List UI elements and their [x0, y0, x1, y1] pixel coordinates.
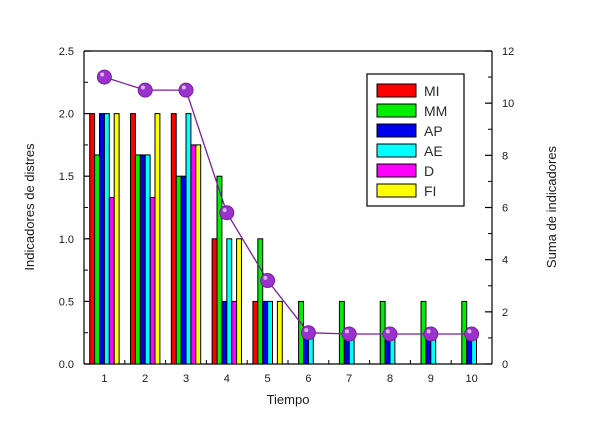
overlay-marker-highlight — [100, 72, 104, 76]
x-axis-tick-label: 8 — [387, 373, 393, 385]
bar-ap-t1 — [100, 114, 105, 364]
y-axis-left-ticks: 0.00.51.01.52.02.5 — [59, 46, 91, 371]
bar-ae-t4 — [227, 239, 232, 364]
bar-mm-t4 — [217, 176, 222, 364]
overlay-marker-t9 — [424, 327, 438, 341]
legend: MIMMAPAEDFI — [367, 74, 464, 206]
bar-mi-t2 — [131, 114, 136, 364]
bar-mi-t3 — [171, 114, 176, 364]
x-axis-tick-label: 3 — [183, 373, 189, 385]
y-axis-right-tick-label: 0 — [502, 359, 508, 371]
bar-fi-t1 — [114, 114, 119, 364]
x-axis-tick-label: 7 — [346, 373, 352, 385]
bar-ap-t5 — [263, 301, 268, 364]
overlay-marker-highlight — [427, 329, 431, 333]
bar-ae-t5 — [268, 301, 273, 364]
overlay-marker-highlight — [182, 86, 186, 90]
x-axis-tick-label: 1 — [101, 373, 107, 385]
y-axis-left-tick-label: 2.0 — [59, 109, 74, 121]
y-axis-left-tick-label: 1.5 — [59, 171, 74, 183]
overlay-marker-t2 — [138, 83, 152, 97]
x-axis-tick-label: 2 — [142, 373, 148, 385]
legend-label-d: D — [424, 163, 434, 179]
bar-mi-t4 — [212, 239, 217, 364]
y-axis-right-tick-label: 2 — [502, 307, 508, 319]
x-axis-tick-label: 4 — [224, 373, 230, 385]
overlay-marker-t6 — [301, 326, 315, 340]
chart-svg: 0.00.51.01.52.02.5 024681012 12345678910… — [0, 0, 600, 443]
overlay-marker-highlight — [304, 328, 308, 332]
bar-d-t2 — [150, 197, 155, 364]
bar-fi-t4 — [237, 239, 242, 364]
bar-mm-t3 — [176, 176, 181, 364]
y-axis-right-tick-label: 6 — [502, 203, 508, 215]
overlay-marker-highlight — [467, 329, 471, 333]
bar-ap-t4 — [222, 301, 227, 364]
legend-swatch-d — [377, 164, 416, 177]
overlay-marker-t7 — [342, 327, 356, 341]
overlay-marker-highlight — [263, 276, 267, 280]
overlay-marker-highlight — [223, 208, 227, 212]
y-axis-right-tick-label: 12 — [502, 46, 514, 58]
bar-ae-t1 — [104, 114, 109, 364]
overlay-marker-t4 — [220, 206, 234, 220]
bar-mm-t2 — [135, 155, 140, 364]
bar-mm-t5 — [258, 239, 263, 364]
bar-ap-t3 — [181, 176, 186, 364]
x-axis-tick-label: 10 — [465, 373, 477, 385]
y-axis-left-title: Indicadores de distres — [22, 143, 37, 271]
legend-label-mm: MM — [424, 103, 447, 119]
y-axis-right-tick-label: 8 — [502, 150, 508, 162]
bar-fi-t3 — [196, 145, 201, 364]
y-axis-right-tick-label: 10 — [502, 98, 514, 110]
overlay-marker-highlight — [345, 329, 349, 333]
y-axis-left-tick-label: 1.0 — [59, 234, 74, 246]
bar-mi-t5 — [253, 301, 258, 364]
bar-d-t3 — [191, 145, 196, 364]
legend-label-mi: MI — [424, 83, 440, 99]
overlay-marker-highlight — [141, 86, 145, 90]
x-axis-tick-label: 9 — [428, 373, 434, 385]
x-axis-title: Tiempo — [267, 392, 310, 407]
overlay-marker-t5 — [261, 274, 275, 288]
bar-ap-t2 — [140, 155, 145, 364]
y-axis-right-ticks: 024681012 — [485, 46, 514, 371]
legend-label-ae: AE — [424, 143, 443, 159]
bar-mi-t1 — [90, 114, 95, 364]
bar-d-t4 — [232, 301, 237, 364]
bar-d-t1 — [109, 197, 114, 364]
overlay-marker-highlight — [386, 329, 390, 333]
x-axis-tick-label: 5 — [265, 373, 271, 385]
overlay-marker-t1 — [97, 70, 111, 84]
legend-swatch-ae — [377, 144, 416, 157]
y-axis-right-tick-label: 4 — [502, 255, 508, 267]
legend-label-fi: FI — [424, 183, 436, 199]
y-axis-right-title: Suma de indicadores — [544, 145, 559, 268]
chart-figure: 0.00.51.01.52.02.5 024681012 12345678910… — [0, 0, 600, 443]
bar-fi-t2 — [155, 114, 160, 364]
bar-fi-t5 — [277, 301, 282, 364]
overlay-marker-t3 — [179, 83, 193, 97]
y-axis-left-tick-label: 2.5 — [59, 46, 74, 58]
x-axis-tick-label: 6 — [305, 373, 311, 385]
legend-swatch-mi — [377, 84, 416, 97]
overlay-marker-t10 — [465, 327, 479, 341]
bar-mm-t1 — [95, 155, 100, 364]
y-axis-left-tick-label: 0.5 — [59, 296, 74, 308]
legend-swatch-ap — [377, 124, 416, 137]
legend-label-ap: AP — [424, 123, 443, 139]
y-axis-left-tick-label: 0.0 — [59, 359, 74, 371]
bar-ae-t3 — [186, 114, 191, 364]
legend-swatch-mm — [377, 104, 416, 117]
overlay-marker-t8 — [383, 327, 397, 341]
bar-ae-t2 — [145, 155, 150, 364]
legend-swatch-fi — [377, 184, 416, 197]
